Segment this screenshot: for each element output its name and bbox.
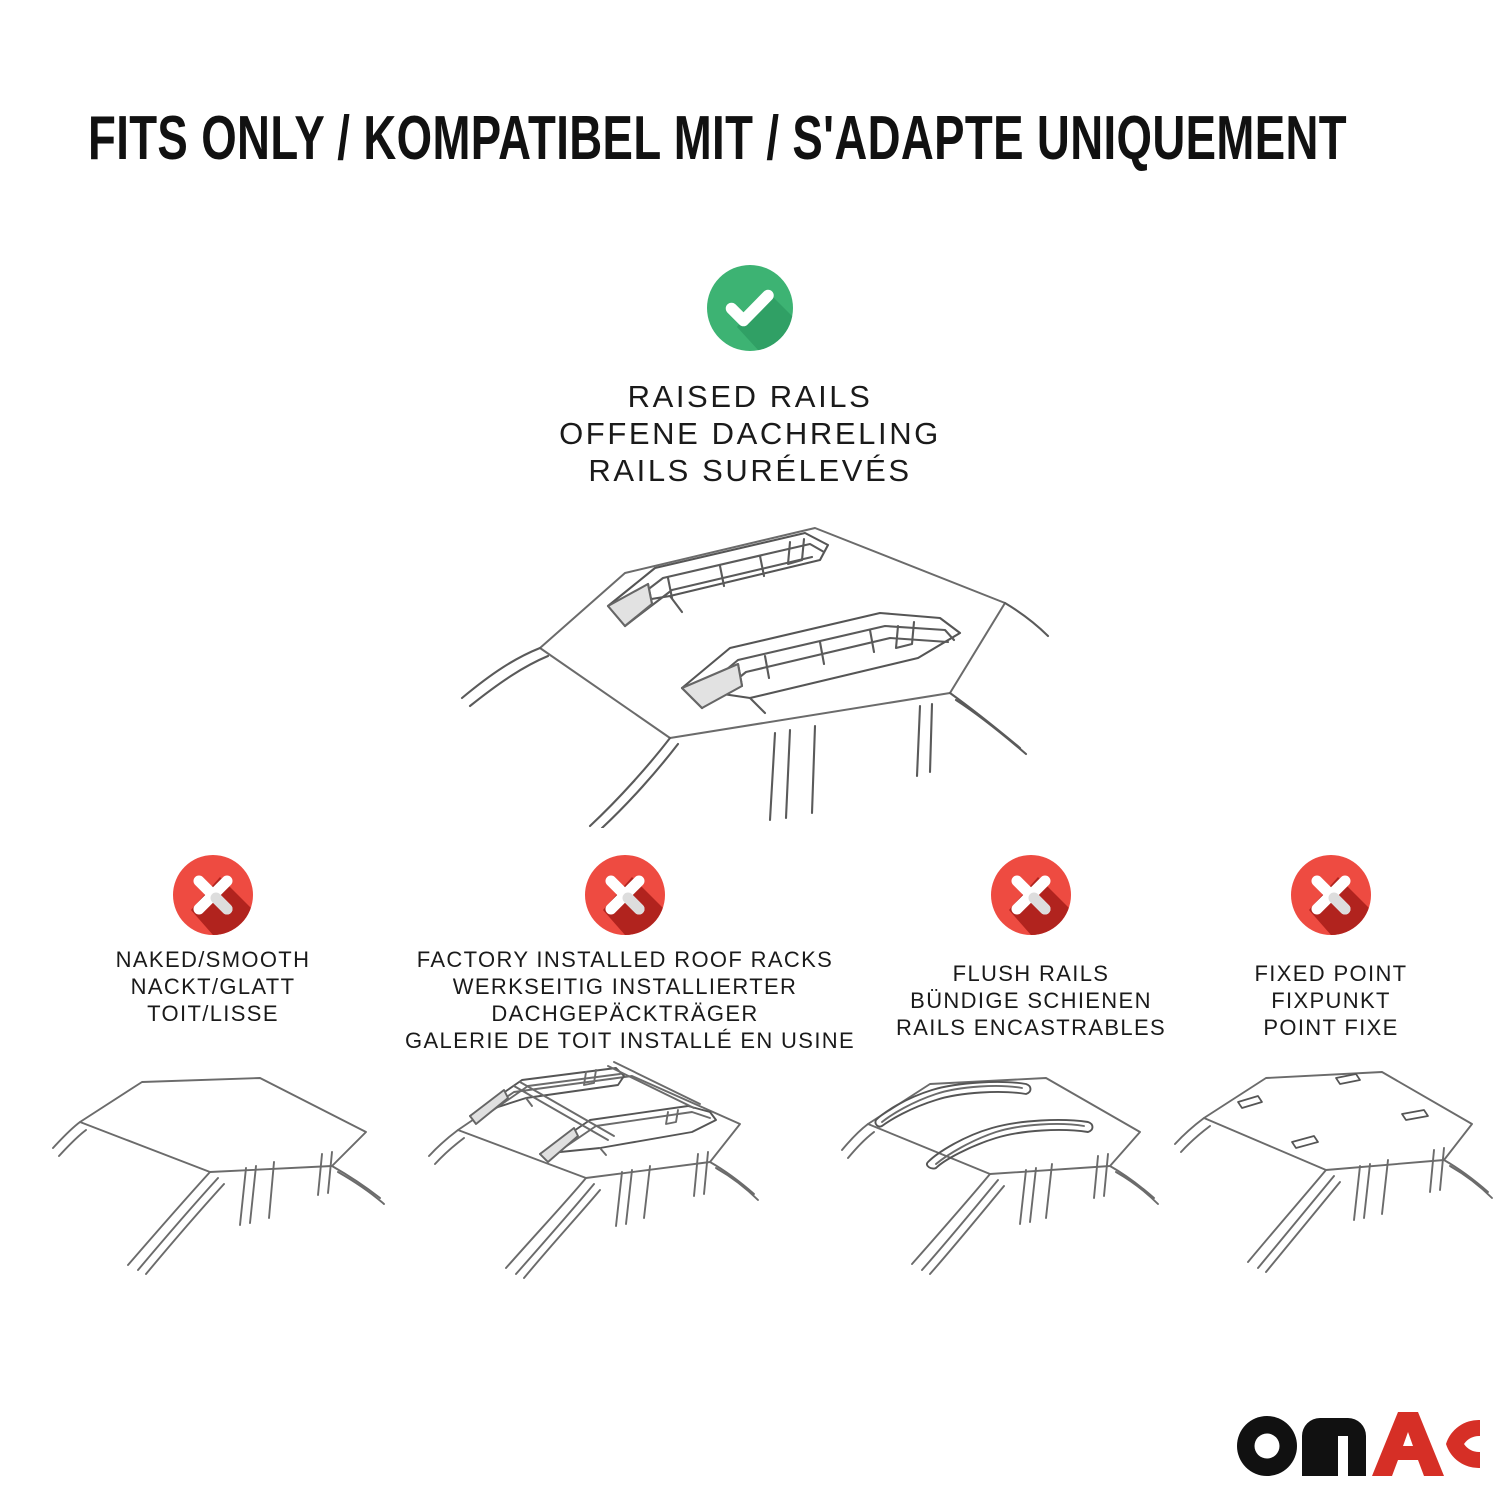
label-flush-de: BÜNDIGE SCHIENEN bbox=[861, 987, 1201, 1014]
logo-letter-o bbox=[1237, 1416, 1297, 1476]
label-flush-en: FLUSH RAILS bbox=[861, 960, 1201, 987]
red-x-icon-flush-rails bbox=[991, 855, 1071, 935]
compatible-label: RAISED RAILS OFFENE DACHRELING RAILS SUR… bbox=[0, 378, 1500, 489]
red-x-icon-fixed-point bbox=[1291, 855, 1371, 935]
label-flush-fr: RAILS ENCASTRABLES bbox=[861, 1014, 1201, 1041]
logo-letter-c bbox=[1446, 1420, 1480, 1468]
red-x-icon-factory-racks bbox=[585, 855, 665, 935]
factory-roof-racks-illustration bbox=[410, 1058, 780, 1296]
incompatible-label-naked: NAKED/SMOOTH NACKT/GLATT TOIT/LISSE bbox=[43, 946, 383, 1027]
green-check-icon bbox=[707, 265, 793, 351]
label-factory-en: FACTORY INSTALLED ROOF RACKS bbox=[405, 946, 845, 973]
page-title: FITS ONLY / KOMPATIBEL MIT / S'ADAPTE UN… bbox=[88, 108, 1061, 170]
compatible-label-fr: RAILS SURÉLEVÉS bbox=[0, 452, 1500, 489]
label-fixed-de: FIXPUNKT bbox=[1191, 987, 1471, 1014]
logo-letter-a bbox=[1372, 1412, 1444, 1476]
label-factory-fr: GALERIE DE TOIT INSTALLÉ EN USINE bbox=[405, 1027, 845, 1054]
label-factory-de: WERKSEITIG INSTALLIERTER bbox=[405, 973, 845, 1000]
compatible-label-de: OFFENE DACHRELING bbox=[0, 415, 1500, 452]
omac-logo bbox=[1232, 1408, 1480, 1476]
label-fixed-en: FIXED POINT bbox=[1191, 960, 1471, 987]
label-naked-fr: TOIT/LISSE bbox=[43, 1000, 383, 1027]
flush-rails-roof-illustration bbox=[840, 1058, 1190, 1296]
label-naked-de: NACKT/GLATT bbox=[43, 973, 383, 1000]
naked-smooth-roof-illustration bbox=[50, 1060, 410, 1295]
raised-rails-roof-illustration bbox=[420, 508, 1085, 828]
incompatible-label-factory-racks: FACTORY INSTALLED ROOF RACKS WERKSEITIG … bbox=[405, 946, 845, 1054]
red-x-icon-naked bbox=[173, 855, 253, 935]
label-fixed-fr: POINT FIXE bbox=[1191, 1014, 1471, 1041]
fixed-point-roof-illustration bbox=[1160, 1058, 1500, 1296]
logo-letter-m bbox=[1302, 1418, 1366, 1476]
label-naked-en: NAKED/SMOOTH bbox=[43, 946, 383, 973]
incompatible-label-flush-rails: FLUSH RAILS BÜNDIGE SCHIENEN RAILS ENCAS… bbox=[861, 960, 1201, 1041]
incompatible-label-fixed-point: FIXED POINT FIXPUNKT POINT FIXE bbox=[1191, 960, 1471, 1041]
compatible-label-en: RAISED RAILS bbox=[0, 378, 1500, 415]
fitment-infographic: FITS ONLY / KOMPATIBEL MIT / S'ADAPTE UN… bbox=[0, 0, 1500, 1500]
label-factory-de2: DACHGEPÄCKTRÄGER bbox=[405, 1000, 845, 1027]
